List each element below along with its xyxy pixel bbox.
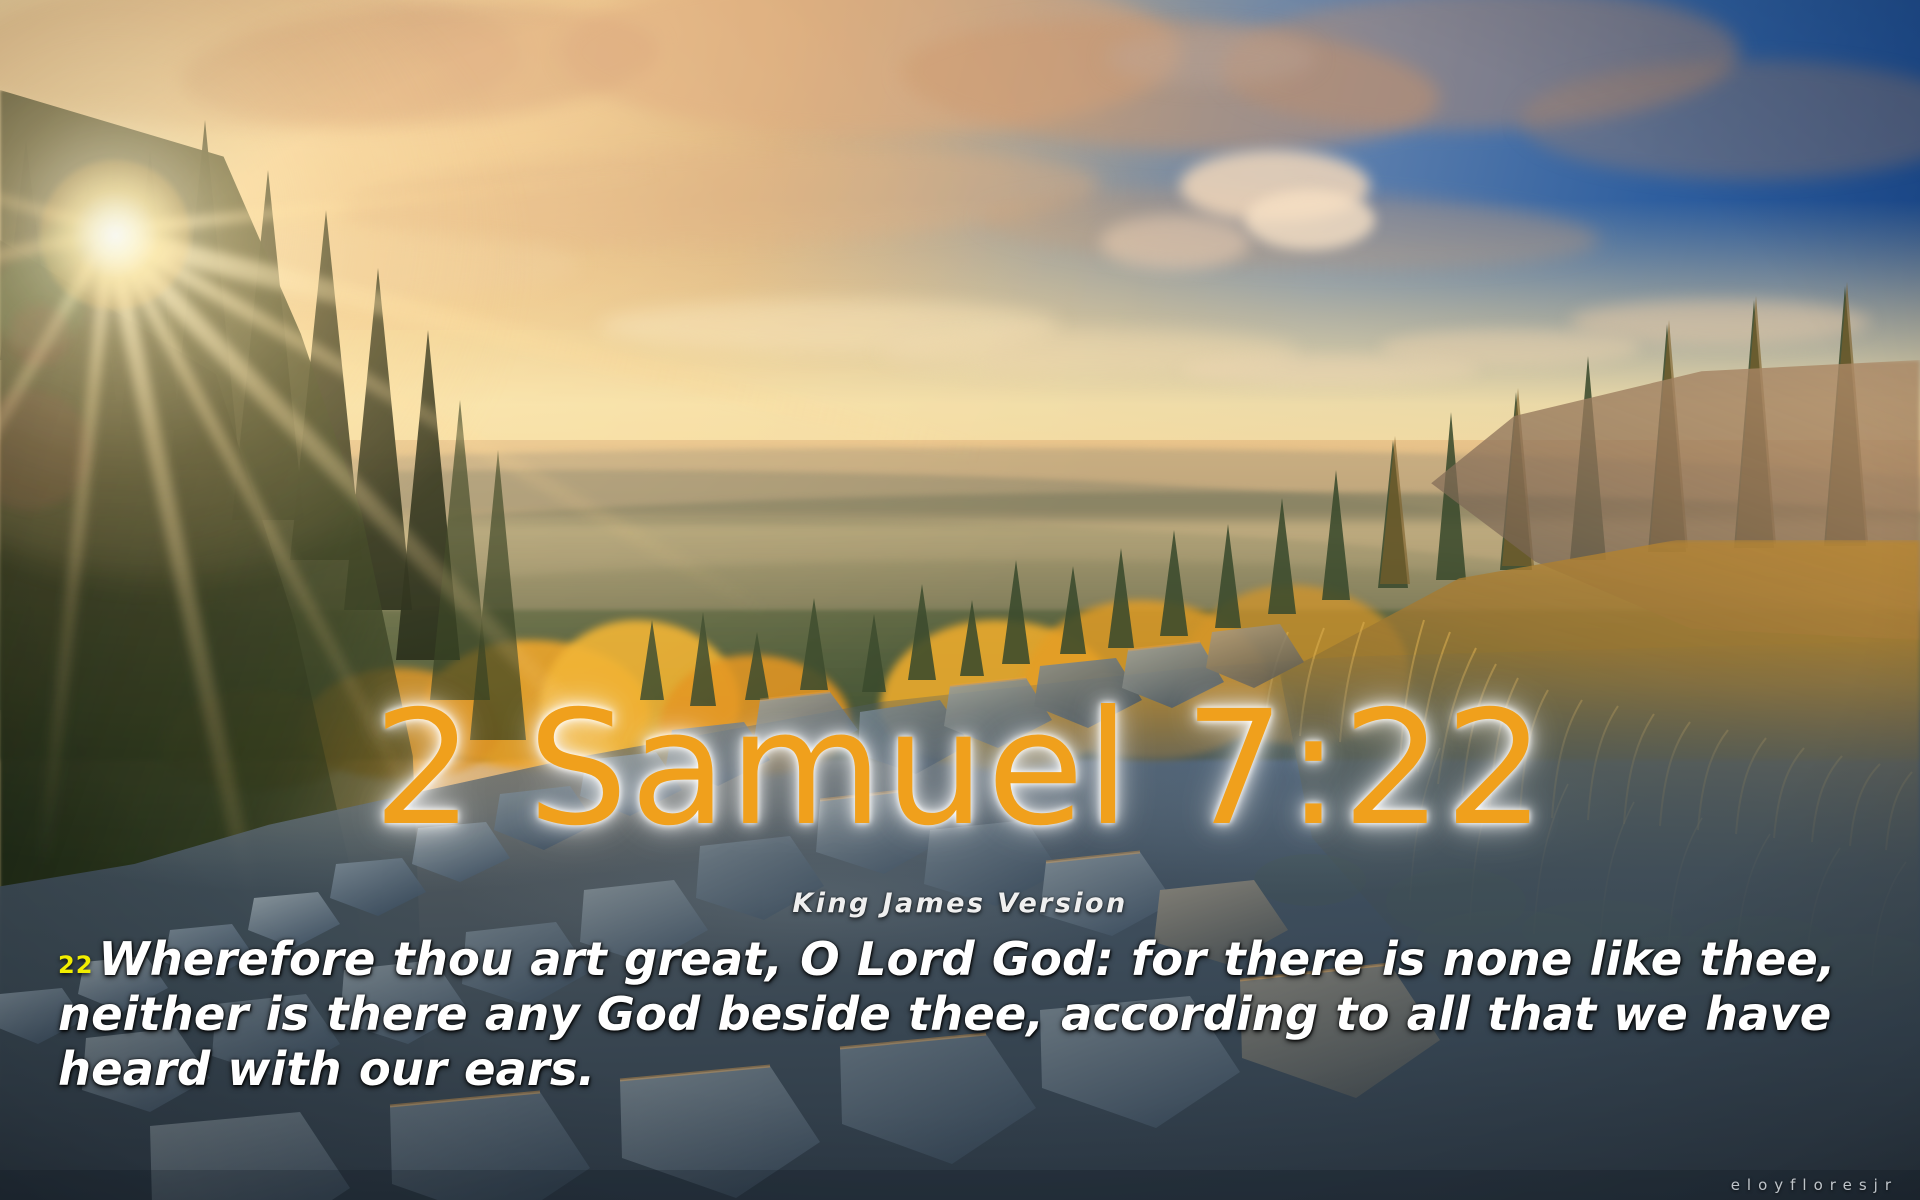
scripture-overlay: 2 Samuel 7:22 King James Version 22Where… [0,690,1920,1200]
scripture-reference: 2 Samuel 7:22 [0,690,1920,848]
verse-number: 22 [58,951,93,979]
verse-text-block: 22Wherefore thou art great, O Lord God: … [58,932,1856,1097]
scripture-wallpaper: 2 Samuel 7:22 King James Version 22Where… [0,0,1920,1200]
verse-text: Wherefore thou art great, O Lord God: fo… [58,932,1836,1096]
translation-label: King James Version [0,888,1920,919]
artist-watermark: eloyfloresjr [1731,1176,1898,1194]
